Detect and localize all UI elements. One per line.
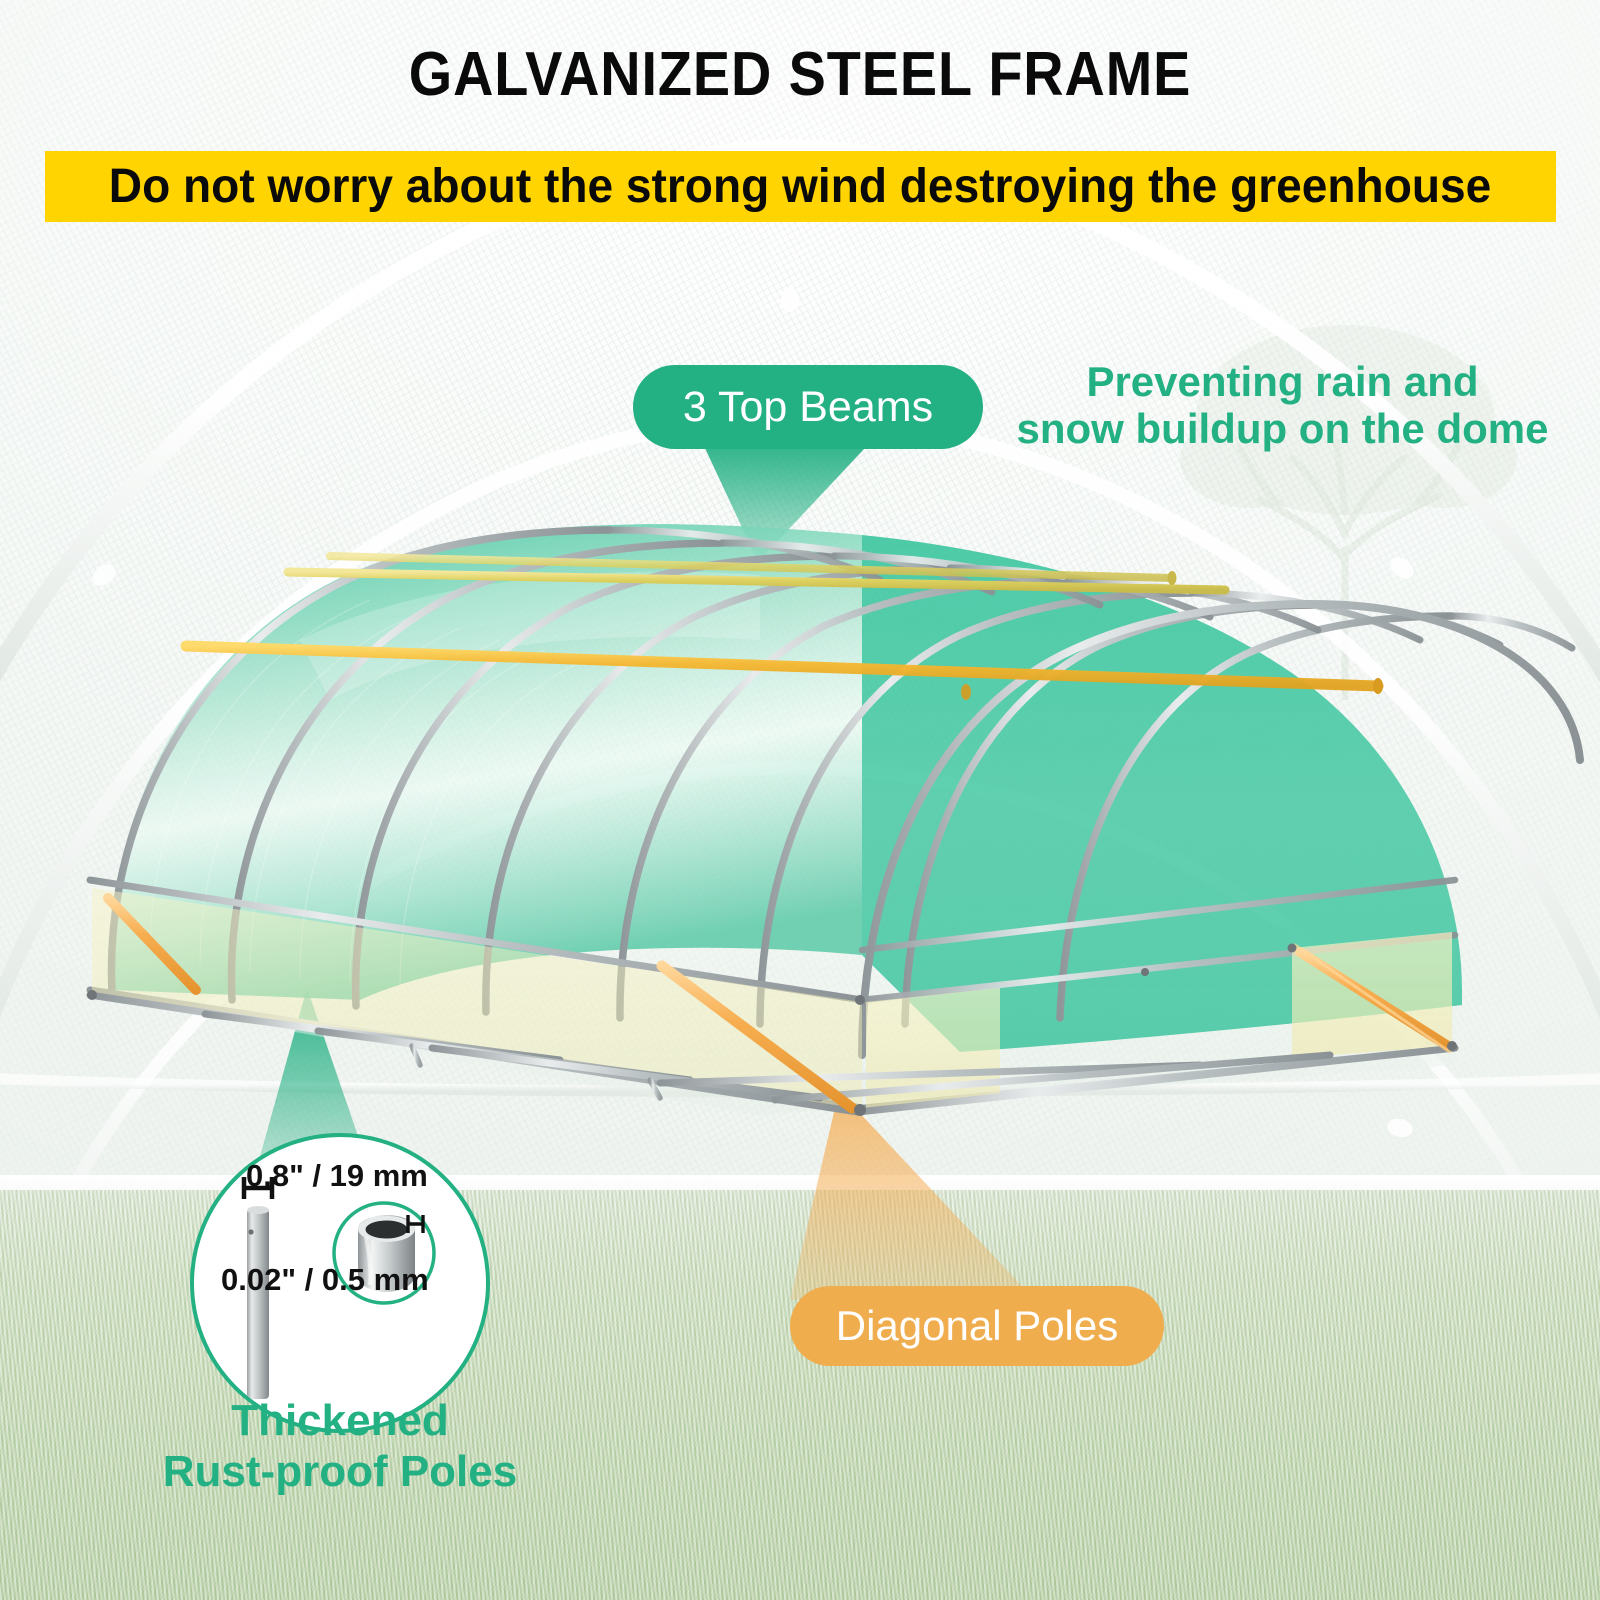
subtitle-banner: Do not worry about the strong wind destr… <box>45 151 1556 222</box>
pole-thickness-label: 0.02" / 0.5 mm <box>196 1262 496 1298</box>
diagonal-poles-badge[interactable]: Diagonal Poles <box>790 1286 1164 1366</box>
infographic-canvas: GALVANIZED STEEL FRAME Do not worry abou… <box>0 0 1600 1600</box>
top-beams-badge-label: 3 Top Beams <box>683 383 933 432</box>
pole-diameter-label: 0.8" / 19 mm <box>196 1158 486 1194</box>
rain-snow-note: Preventing rain and snow buildup on the … <box>995 358 1570 452</box>
diagonal-poles-badge-label: Diagonal Poles <box>836 1302 1119 1350</box>
rain-snow-note-line2: snow buildup on the dome <box>995 405 1570 452</box>
subtitle-banner-text: Do not worry about the strong wind destr… <box>109 159 1491 214</box>
rust-proof-note-line1: Thickened <box>120 1395 560 1446</box>
rust-proof-note-line2: Rust-proof Poles <box>120 1446 560 1497</box>
top-beams-badge[interactable]: 3 Top Beams <box>633 365 983 449</box>
rain-snow-note-line1: Preventing rain and <box>995 358 1570 405</box>
page-title: GALVANIZED STEEL FRAME <box>80 44 1520 106</box>
rust-proof-note: Thickened Rust-proof Poles <box>120 1395 560 1497</box>
